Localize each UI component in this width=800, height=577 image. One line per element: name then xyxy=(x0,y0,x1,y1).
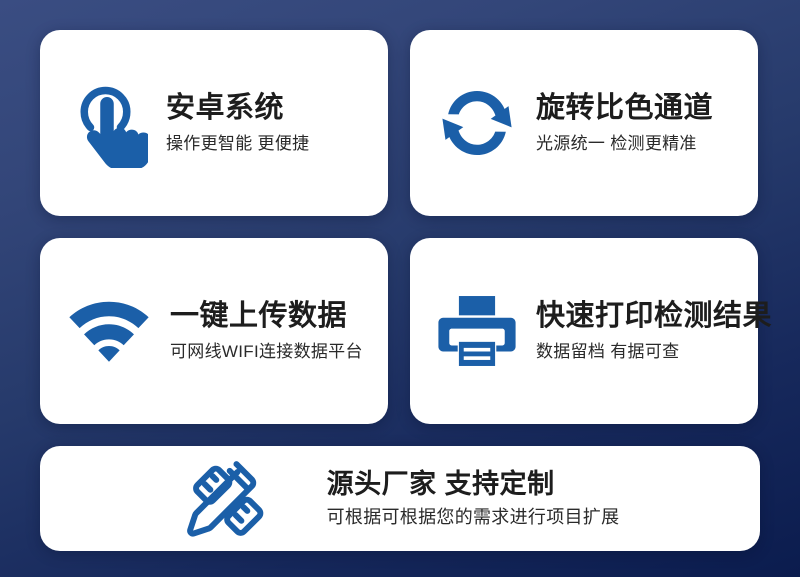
wifi-icon xyxy=(66,295,152,367)
feature-row-2: 一键上传数据 可网线WIFI连接数据平台 快速打印检测结果 数据留档 有据可查 xyxy=(40,238,760,424)
feature-card-manufacturer-customization[interactable]: 源头厂家 支持定制 可根据可根据您的需求进行项目扩展 xyxy=(40,446,760,551)
feature-text-block: 一键上传数据 可网线WIFI连接数据平台 xyxy=(170,299,363,362)
feature-subtitle: 可根据可根据您的需求进行项目扩展 xyxy=(327,507,620,529)
feature-title: 快速打印检测结果 xyxy=(536,299,772,334)
rotate-refresh-icon xyxy=(436,82,518,164)
printer-icon xyxy=(436,293,518,369)
feature-card-android-system[interactable]: 安卓系统 操作更智能 更便捷 xyxy=(40,30,388,216)
feature-text-block: 快速打印检测结果 数据留档 有据可查 xyxy=(536,299,772,362)
feature-text-block: 源头厂家 支持定制 可根据可根据您的需求进行项目扩展 xyxy=(327,468,620,529)
feature-subtitle: 可网线WIFI连接数据平台 xyxy=(170,342,363,363)
touch-hand-icon xyxy=(66,78,148,168)
feature-text-block: 旋转比色通道 光源统一 检测更精准 xyxy=(536,91,713,154)
feature-highlights-page: 安卓系统 操作更智能 更便捷 旋转比色通道 光源统一 检测更精准 xyxy=(0,0,800,577)
feature-card-rotating-colorimetric-channel[interactable]: 旋转比色通道 光源统一 检测更精准 xyxy=(410,30,758,216)
feature-row-1: 安卓系统 操作更智能 更便捷 旋转比色通道 光源统一 检测更精准 xyxy=(40,30,760,216)
feature-card-one-click-upload[interactable]: 一键上传数据 可网线WIFI连接数据平台 xyxy=(40,238,388,424)
feature-card-fast-print-results[interactable]: 快速打印检测结果 数据留档 有据可查 xyxy=(410,238,758,424)
feature-text-block: 安卓系统 操作更智能 更便捷 xyxy=(166,91,309,154)
feature-subtitle: 数据留档 有据可查 xyxy=(536,342,772,363)
pen-ruler-design-icon xyxy=(181,454,267,544)
feature-title: 源头厂家 支持定制 xyxy=(327,468,555,501)
feature-title: 一键上传数据 xyxy=(170,299,363,334)
feature-title: 旋转比色通道 xyxy=(536,91,713,126)
feature-subtitle: 光源统一 检测更精准 xyxy=(536,134,713,155)
feature-title: 安卓系统 xyxy=(166,91,309,126)
feature-subtitle: 操作更智能 更便捷 xyxy=(166,134,309,155)
